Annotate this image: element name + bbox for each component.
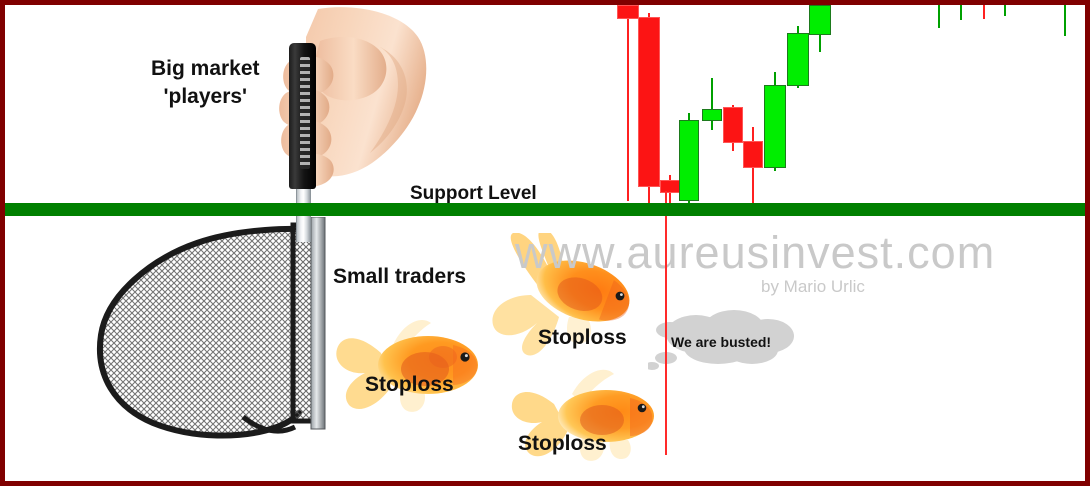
candle-2-down (660, 5, 680, 216)
candle-body (660, 180, 680, 193)
candle-body (679, 120, 699, 201)
candle-6-down (743, 5, 763, 216)
candle-wick (983, 5, 985, 19)
big-players-line1: Big market (151, 55, 260, 83)
candle-0-down (617, 5, 639, 216)
candle-12-down (982, 5, 986, 216)
candle-wick (627, 5, 629, 201)
candle-body (743, 141, 763, 168)
candle-13-up (1003, 5, 1007, 216)
breakdown-line (665, 191, 667, 455)
watermark-author: by Mario Urlic (761, 277, 865, 297)
big-players-line2: 'players' (151, 83, 260, 111)
candle-body (809, 5, 831, 35)
candle-8-up (787, 5, 809, 216)
support-level-line (5, 203, 1085, 216)
stoploss-label-middle: Stoploss (538, 326, 627, 350)
candle-10-up (937, 5, 941, 216)
candle-wick (1004, 5, 1006, 16)
support-level-label: Support Level (410, 183, 537, 205)
candle-wick (960, 5, 962, 20)
candle-body (723, 107, 743, 143)
goldfish-left-icon (335, 305, 495, 425)
stoploss-label-lower: Stoploss (518, 432, 607, 456)
candle-body (702, 109, 722, 121)
candle-body (617, 5, 639, 19)
illustration-canvas: Support Level Big market 'players' (0, 0, 1090, 486)
candle-body (787, 33, 809, 86)
net-grip (289, 43, 316, 189)
candle-3-up (679, 5, 699, 216)
fishing-net-icon (93, 217, 343, 447)
candle-11-up (959, 5, 963, 216)
candle-5-down (723, 5, 743, 216)
candle-body (764, 85, 786, 168)
candle-1-down (638, 5, 660, 216)
hand-icon (260, 7, 428, 197)
candle-wick (711, 78, 713, 130)
candle-wick (938, 5, 940, 28)
candle-14-up (1063, 5, 1067, 216)
candle-body (638, 17, 660, 187)
big-players-annotation: Big market 'players' (151, 55, 260, 112)
candle-wick (1064, 5, 1066, 36)
stoploss-label-left: Stoploss (365, 373, 454, 397)
thought-bubble-text: We are busted! (671, 334, 771, 350)
small-traders-label: Small traders (333, 265, 466, 289)
candle-9-up (809, 5, 831, 216)
candle-7-up (764, 5, 786, 216)
candle-4-up (702, 5, 722, 216)
